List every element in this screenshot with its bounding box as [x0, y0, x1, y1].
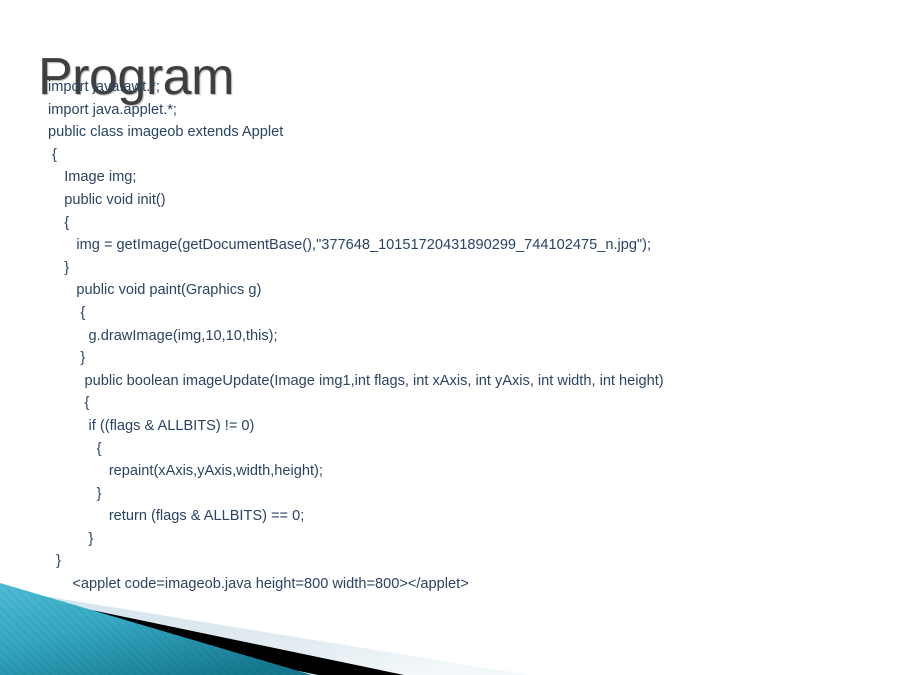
- black-stripe: [0, 591, 404, 675]
- code-line: img = getImage(getDocumentBase(),"377648…: [48, 234, 878, 257]
- code-line: return (flags & ALLBITS) == 0;: [48, 505, 878, 528]
- code-line: public class imageob extends Applet: [48, 121, 878, 144]
- code-line: public boolean imageUpdate(Image img1,in…: [48, 370, 878, 393]
- pale-blue-wedge: [0, 589, 530, 675]
- code-block: import java.awt.*;import java.applet.*;p…: [48, 76, 878, 596]
- code-line: public void init(): [48, 189, 878, 212]
- code-line: import java.applet.*;: [48, 99, 878, 122]
- code-line: }: [48, 483, 878, 506]
- code-line: }: [48, 550, 878, 573]
- teal-wedge: [0, 583, 312, 675]
- code-line: <applet code=imageob.java height=800 wid…: [48, 573, 878, 596]
- code-line: }: [48, 347, 878, 370]
- code-line: {: [48, 392, 878, 415]
- code-line: {: [48, 302, 878, 325]
- code-line: Image img;: [48, 166, 878, 189]
- code-line: {: [48, 438, 878, 461]
- code-line: {: [48, 144, 878, 167]
- code-line: if ((flags & ALLBITS) != 0): [48, 415, 878, 438]
- code-line: public void paint(Graphics g): [48, 279, 878, 302]
- slide-canvas: Program import java.awt.*;import java.ap…: [0, 0, 900, 675]
- code-line: {: [48, 212, 878, 235]
- code-line: import java.awt.*;: [48, 76, 878, 99]
- code-line: }: [48, 528, 878, 551]
- code-line: repaint(xAxis,yAxis,width,height);: [48, 460, 878, 483]
- code-line: }: [48, 257, 878, 280]
- code-line: g.drawImage(img,10,10,this);: [48, 325, 878, 348]
